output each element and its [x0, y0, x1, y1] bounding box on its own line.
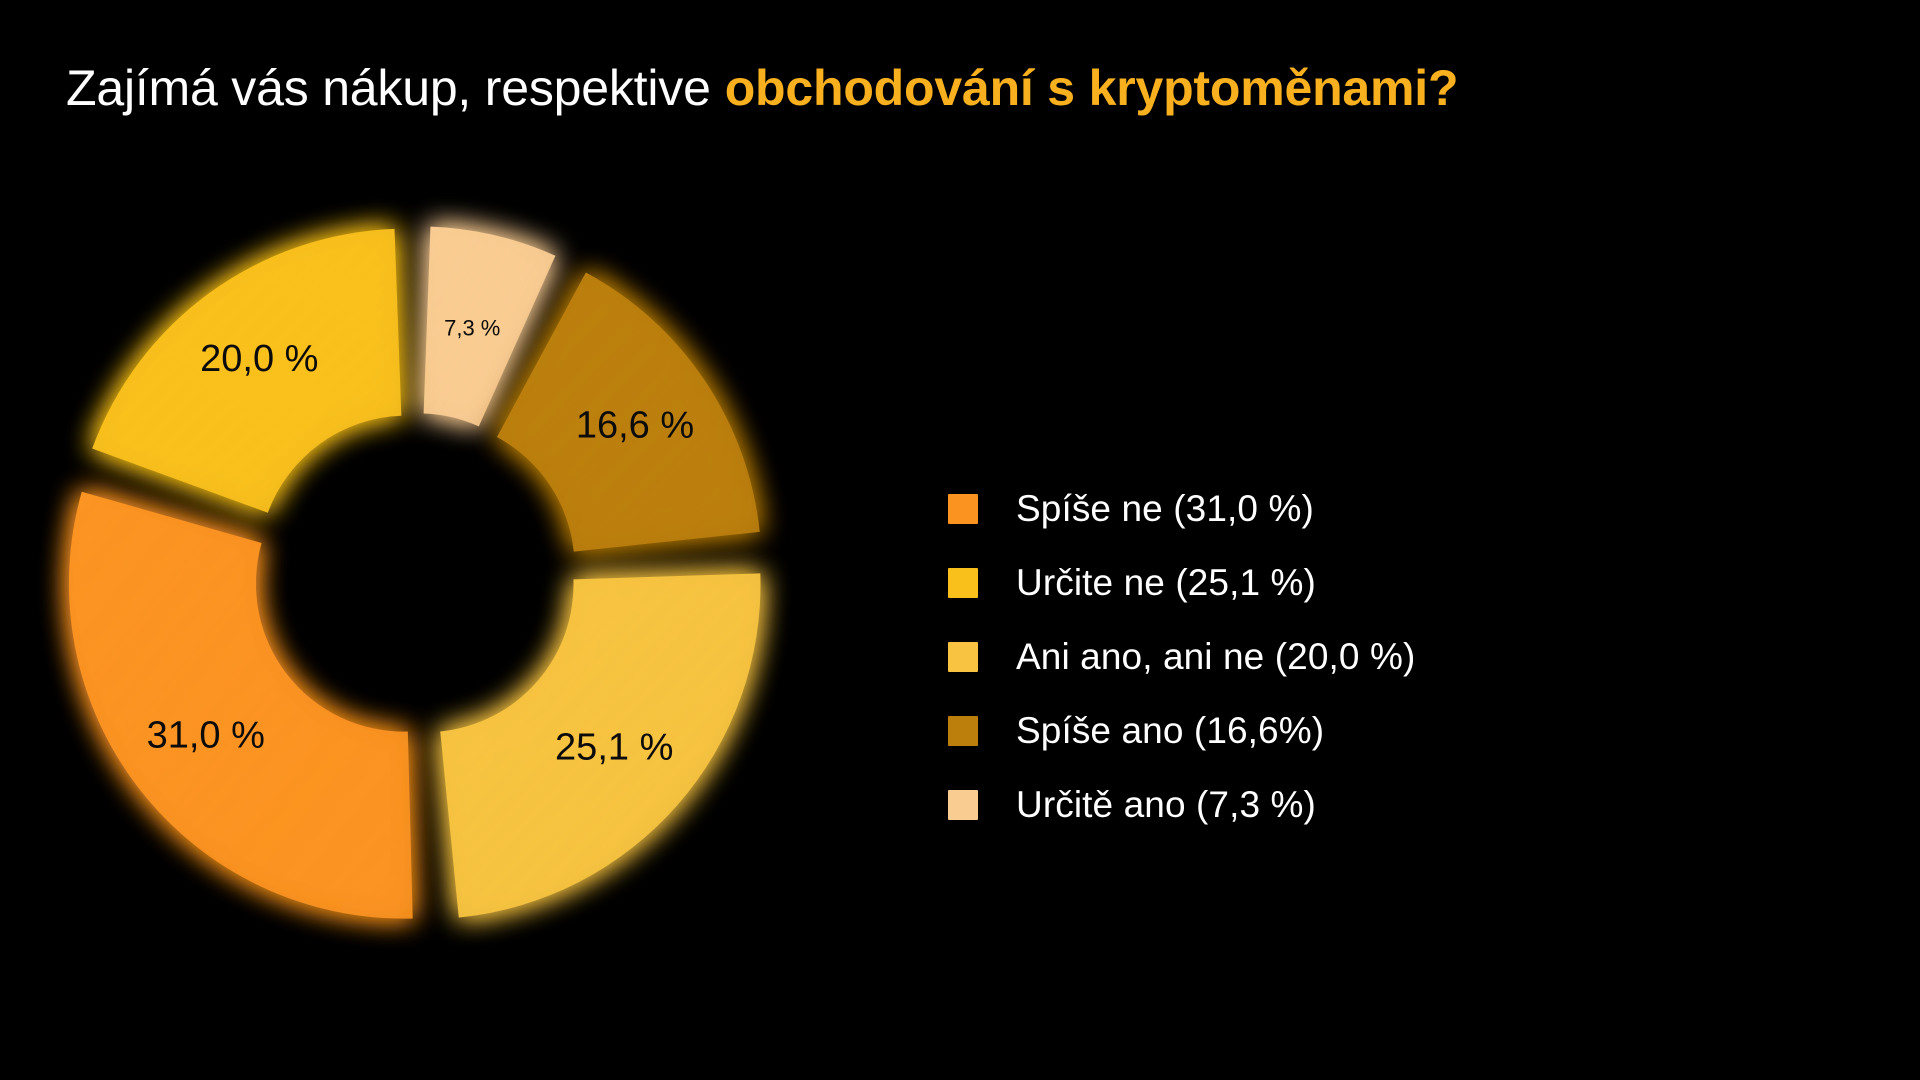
- donut-slice[interactable]: [69, 492, 413, 919]
- donut-slice[interactable]: [497, 272, 760, 551]
- legend-swatch: [948, 716, 978, 746]
- donut-slice[interactable]: [92, 229, 401, 513]
- legend-swatch: [948, 642, 978, 672]
- donut-slices: [69, 227, 761, 919]
- chart-legend: Spíše ne (31,0 %)Určite ne (25,1 %)Ani a…: [948, 472, 1588, 842]
- legend-label: Spíše ne (31,0 %): [1016, 488, 1314, 530]
- legend-swatch: [948, 568, 978, 598]
- page-title-plain: Zajímá vás nákup, respektive: [66, 59, 711, 117]
- legend-label: Určitě ano (7,3 %): [1016, 784, 1316, 826]
- legend-item[interactable]: Určitě ano (7,3 %): [948, 768, 1588, 842]
- legend-label: Určite ne (25,1 %): [1016, 562, 1316, 604]
- donut-chart: 7,3 %16,6 %25,1 %31,0 %20,0 %: [30, 185, 860, 1015]
- legend-swatch: [948, 494, 978, 524]
- donut-slice[interactable]: [440, 573, 760, 917]
- page-title: Zajímá vás nákup, respektive obchodování…: [66, 48, 1866, 128]
- legend-item[interactable]: Určite ne (25,1 %): [948, 546, 1588, 620]
- legend-label: Ani ano, ani ne (20,0 %): [1016, 636, 1415, 678]
- legend-label: Spíše ano (16,6%): [1016, 710, 1324, 752]
- legend-item[interactable]: Spíše ano (16,6%): [948, 694, 1588, 768]
- donut-chart-svg: 7,3 %16,6 %25,1 %31,0 %20,0 %: [30, 185, 860, 1015]
- legend-item[interactable]: Spíše ne (31,0 %): [948, 472, 1588, 546]
- page-title-accent: obchodování s kryptoměnami?: [725, 59, 1459, 117]
- legend-swatch: [948, 790, 978, 820]
- legend-item[interactable]: Ani ano, ani ne (20,0 %): [948, 620, 1588, 694]
